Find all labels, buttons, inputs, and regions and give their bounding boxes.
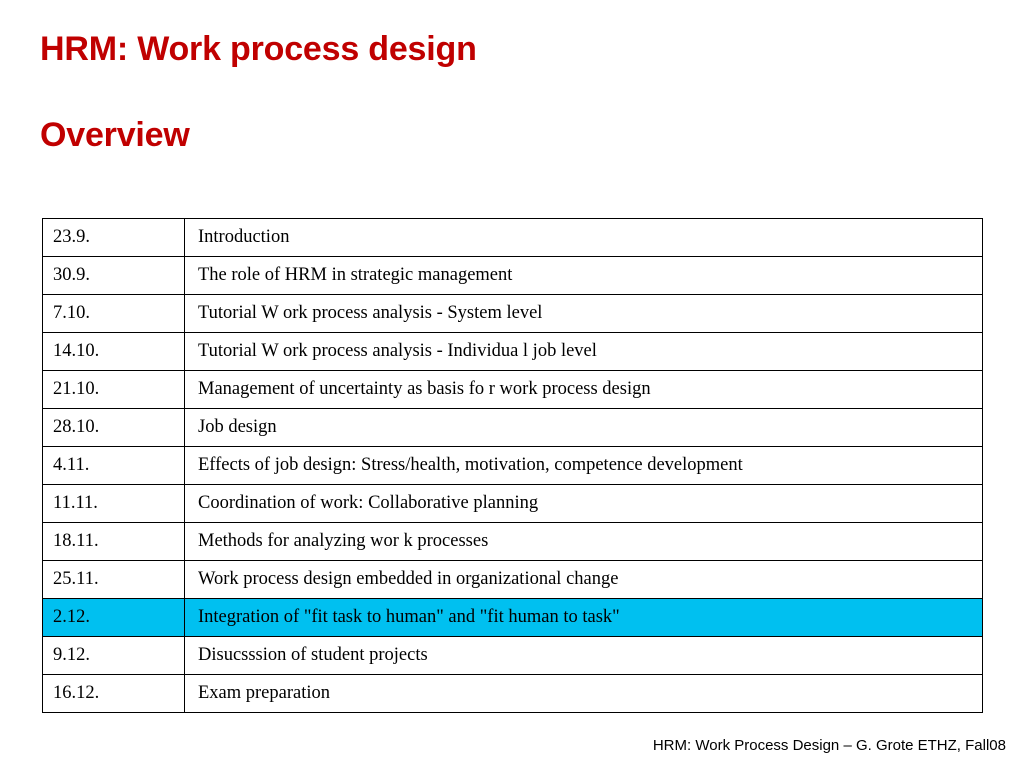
table-cell-topic: The role of HRM in strategic management bbox=[185, 257, 983, 295]
table-cell-date: 25.11. bbox=[43, 561, 185, 599]
table-cell-date: 14.10. bbox=[43, 333, 185, 371]
schedule-table: 23.9.Introduction30.9.The role of HRM in… bbox=[42, 218, 983, 713]
table-row[interactable]: 21.10.Management of uncertainty as basis… bbox=[43, 371, 983, 409]
table-cell-topic: Disucsssion of student projects bbox=[185, 637, 983, 675]
table-row[interactable]: 23.9.Introduction bbox=[43, 219, 983, 257]
table-cell-topic: Management of uncertainty as basis fo r … bbox=[185, 371, 983, 409]
table-row[interactable]: 25.11.Work process design embedded in or… bbox=[43, 561, 983, 599]
table-row[interactable]: 7.10.Tutorial W ork process analysis - S… bbox=[43, 295, 983, 333]
table-cell-date: 23.9. bbox=[43, 219, 185, 257]
table-cell-topic: Introduction bbox=[185, 219, 983, 257]
table-row[interactable]: 2.12.Integration of "fit task to human" … bbox=[43, 599, 983, 637]
table-cell-topic: Integration of "fit task to human" and "… bbox=[185, 599, 983, 637]
table-cell-topic: Effects of job design: Stress/health, mo… bbox=[185, 447, 983, 485]
page-title: HRM: Work process design bbox=[40, 30, 980, 68]
table-cell-date: 21.10. bbox=[43, 371, 185, 409]
table-cell-date: 11.11. bbox=[43, 485, 185, 523]
table-cell-topic: Work process design embedded in organiza… bbox=[185, 561, 983, 599]
table-cell-date: 16.12. bbox=[43, 675, 185, 713]
table-cell-topic: Tutorial W ork process analysis - Indivi… bbox=[185, 333, 983, 371]
table-cell-topic: Job design bbox=[185, 409, 983, 447]
table-row[interactable]: 14.10.Tutorial W ork process analysis - … bbox=[43, 333, 983, 371]
table-row[interactable]: 4.11.Effects of job design: Stress/healt… bbox=[43, 447, 983, 485]
table-cell-date: 28.10. bbox=[43, 409, 185, 447]
table-cell-date: 4.11. bbox=[43, 447, 185, 485]
schedule-table-container: 23.9.Introduction30.9.The role of HRM in… bbox=[42, 218, 982, 713]
table-cell-date: 9.12. bbox=[43, 637, 185, 675]
table-row[interactable]: 9.12.Disucsssion of student projects bbox=[43, 637, 983, 675]
table-cell-topic: Coordination of work: Collaborative plan… bbox=[185, 485, 983, 523]
table-row[interactable]: 30.9.The role of HRM in strategic manage… bbox=[43, 257, 983, 295]
slide: HRM: Work process design Overview 23.9.I… bbox=[0, 0, 1024, 768]
table-cell-date: 18.11. bbox=[43, 523, 185, 561]
title-block: HRM: Work process design Overview bbox=[40, 30, 980, 154]
table-row[interactable]: 18.11.Methods for analyzing wor k proces… bbox=[43, 523, 983, 561]
table-cell-topic: Tutorial W ork process analysis - System… bbox=[185, 295, 983, 333]
schedule-table-body: 23.9.Introduction30.9.The role of HRM in… bbox=[43, 219, 983, 713]
slide-subtitle: Overview bbox=[40, 116, 980, 154]
table-cell-date: 30.9. bbox=[43, 257, 185, 295]
table-cell-date: 2.12. bbox=[43, 599, 185, 637]
table-cell-date: 7.10. bbox=[43, 295, 185, 333]
table-cell-topic: Exam preparation bbox=[185, 675, 983, 713]
table-row[interactable]: 11.11.Coordination of work: Collaborativ… bbox=[43, 485, 983, 523]
table-row[interactable]: 28.10.Job design bbox=[43, 409, 983, 447]
table-row[interactable]: 16.12.Exam preparation bbox=[43, 675, 983, 713]
slide-footer: HRM: Work Process Design – G. Grote ETHZ… bbox=[653, 737, 1006, 754]
table-cell-topic: Methods for analyzing wor k processes bbox=[185, 523, 983, 561]
